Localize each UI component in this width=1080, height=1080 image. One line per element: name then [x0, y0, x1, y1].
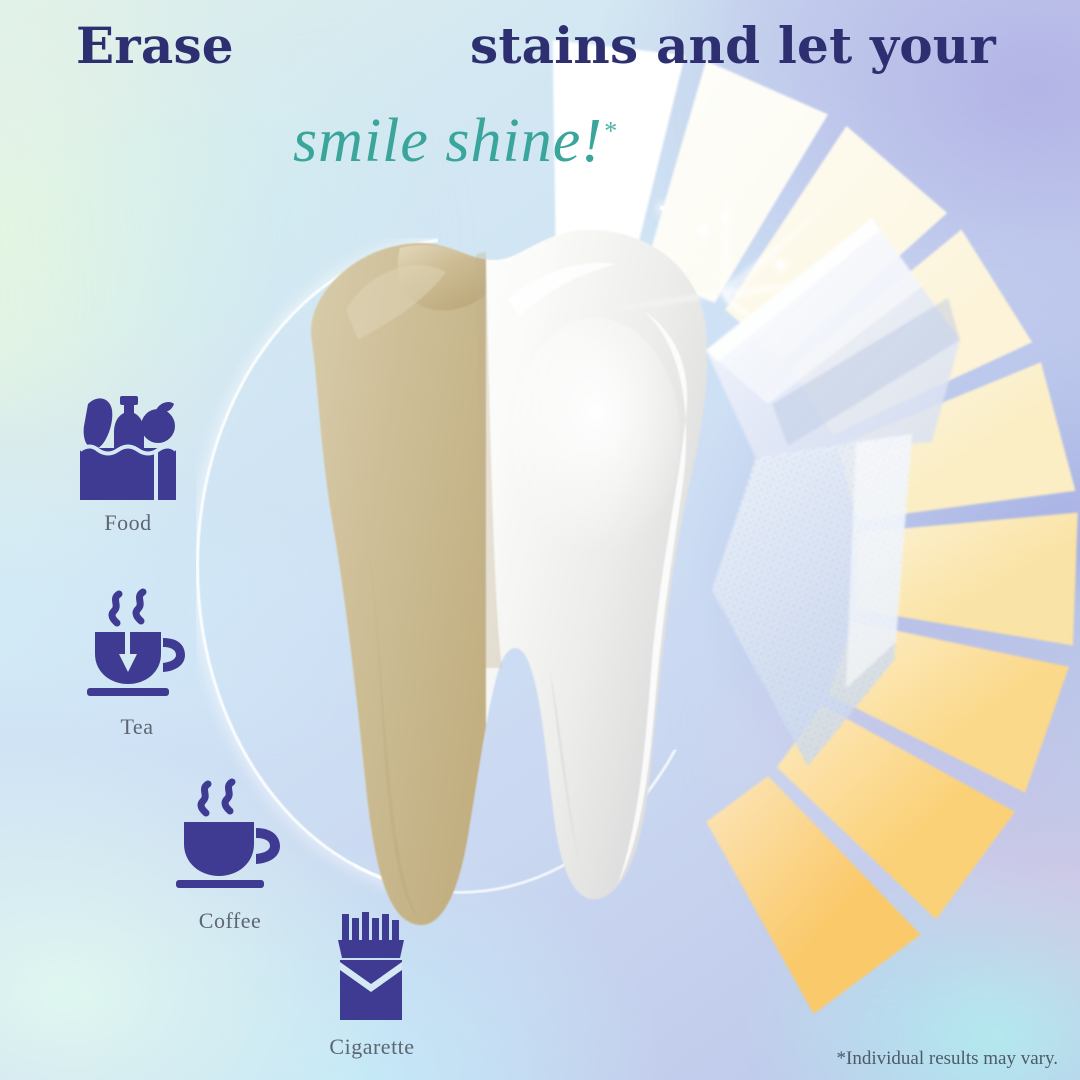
grocery-bag-icon: [76, 392, 180, 502]
stain-source-cigarette[interactable]: Cigarette: [282, 910, 462, 1060]
cigarette-pack-icon: [330, 910, 414, 1026]
poster-canvas: Erase stains and let your smile shine!*: [0, 0, 1080, 1080]
disclaimer-text: *Individual results may vary.: [837, 1048, 1058, 1070]
headline-asterisk: *: [603, 116, 617, 145]
stain-source-food[interactable]: Food: [48, 392, 208, 536]
headline-line1-rest: stains and let your: [470, 14, 996, 78]
stain-sources-list: Food Tea: [0, 0, 480, 1080]
stain-source-label: Food: [48, 510, 208, 536]
stain-source-tea[interactable]: Tea: [62, 588, 212, 740]
coffee-cup-icon: [174, 778, 286, 900]
whitening-strip: [660, 190, 1040, 810]
stain-source-label: Tea: [62, 714, 212, 740]
stain-source-label: Cigarette: [282, 1034, 462, 1060]
tea-cup-icon: [83, 588, 191, 706]
